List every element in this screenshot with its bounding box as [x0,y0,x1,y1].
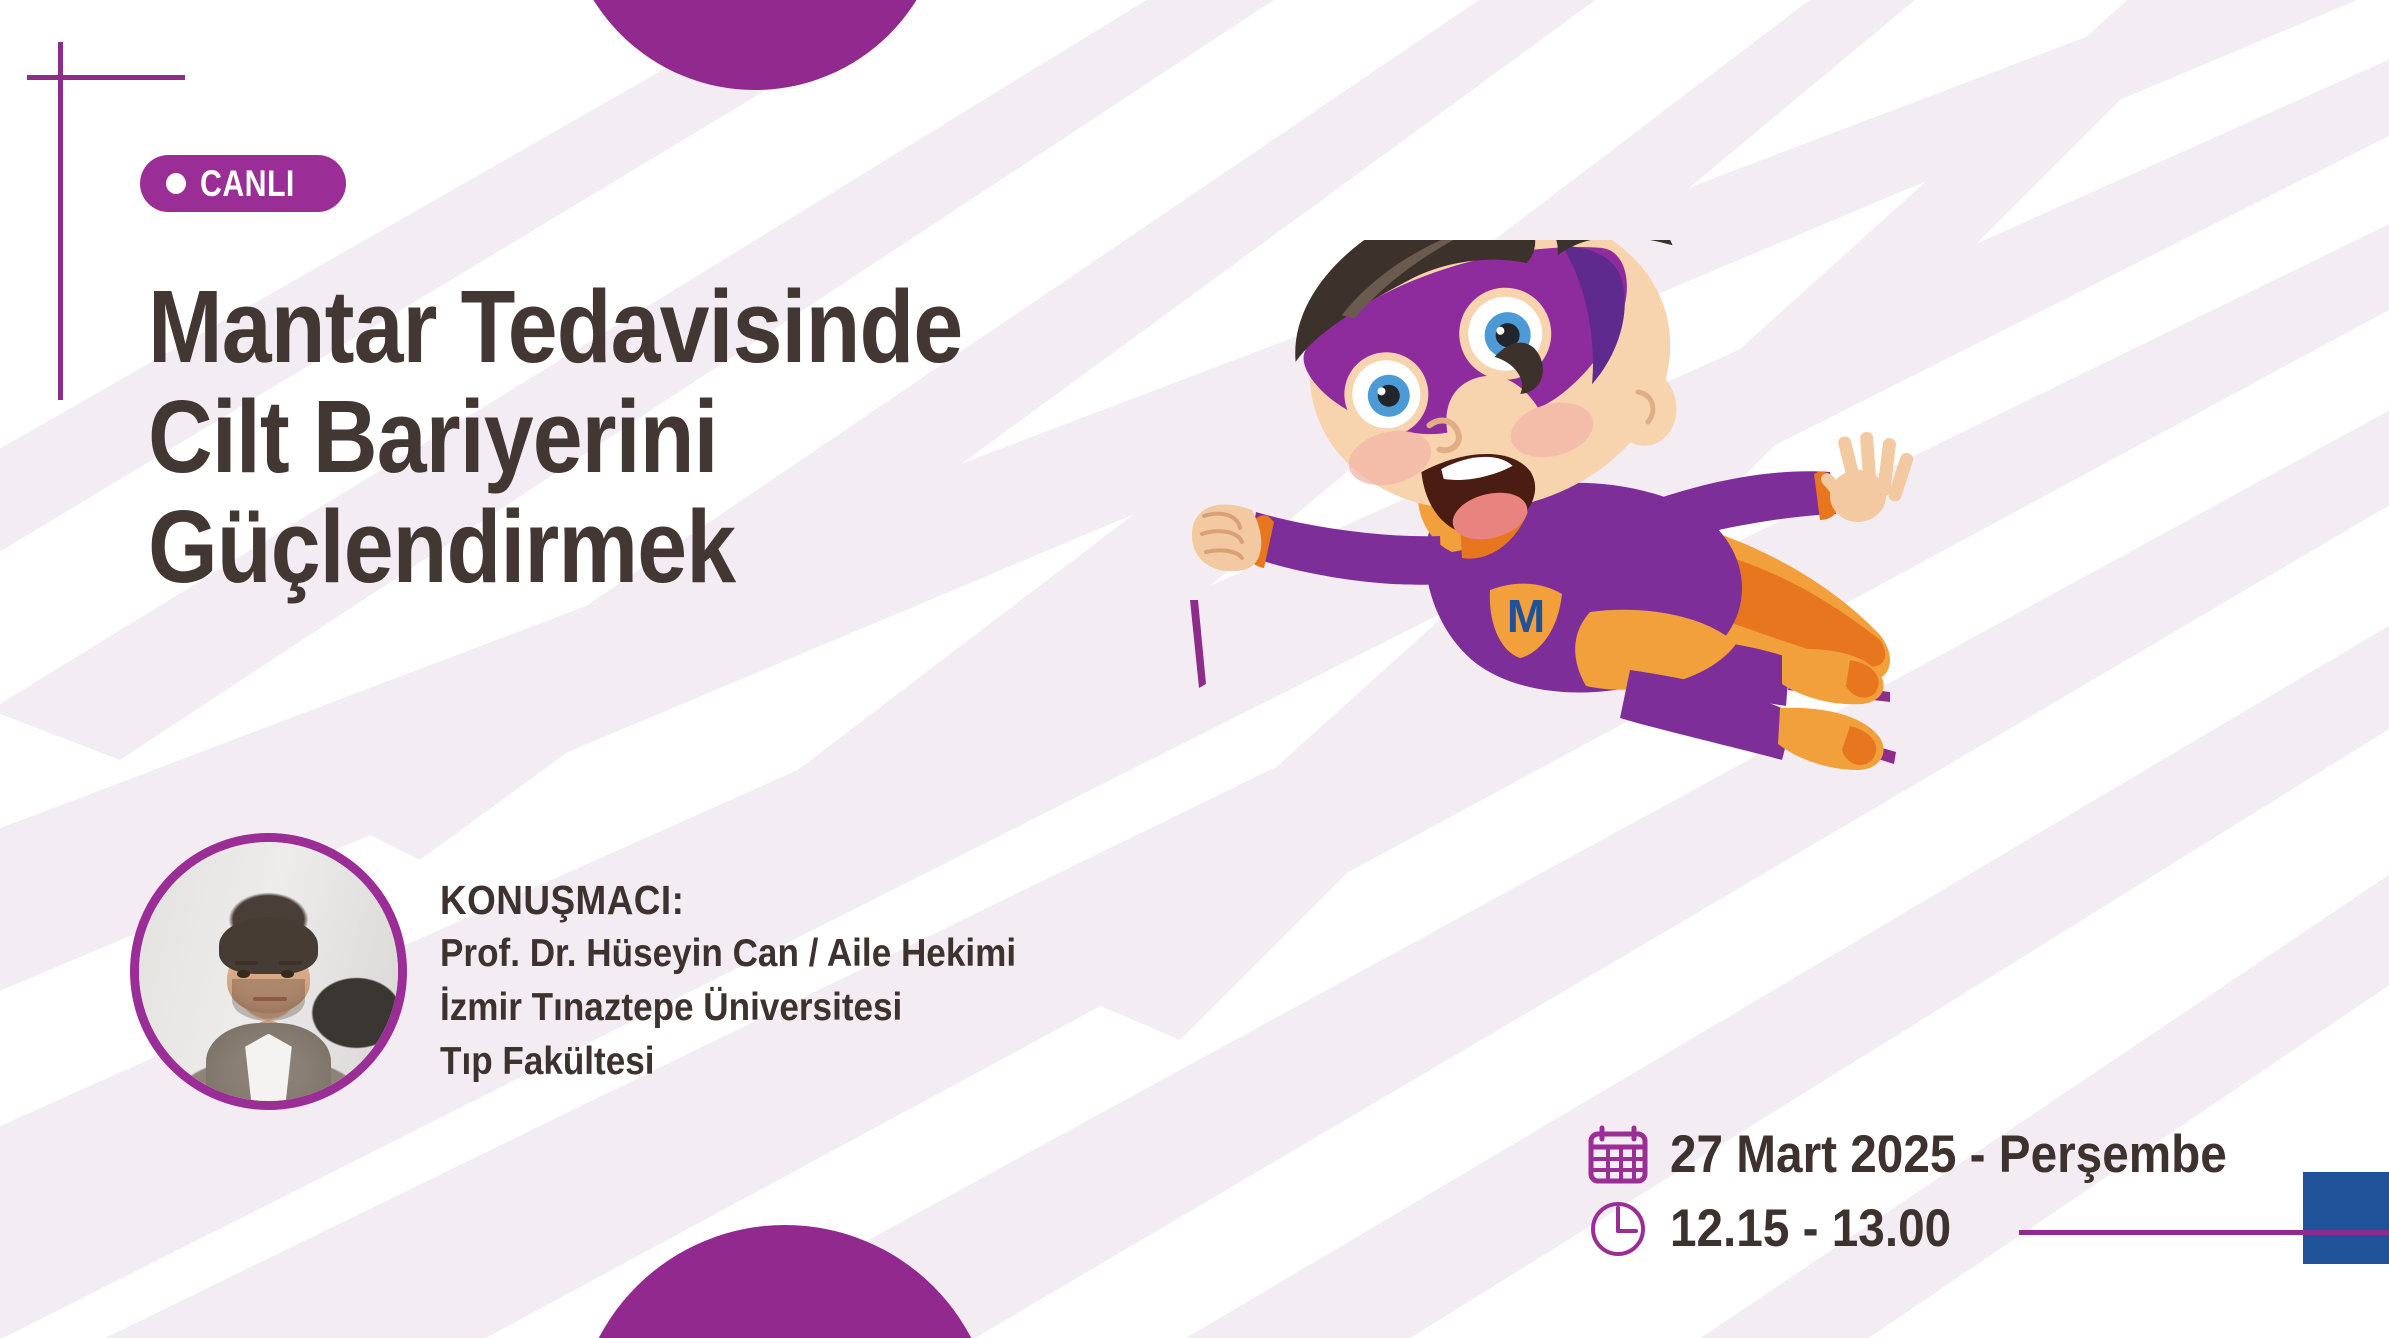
avatar-shirt [245,1034,292,1107]
speaker-faculty: Tıp Fakültesi [440,1035,1016,1089]
webinar-banner: CANLI Mantar Tedavisinde Cilt Bariyerini… [0,0,2389,1338]
decor-purple-rule [2019,1230,2389,1235]
flying-superhero-illustration: M [1190,240,2000,970]
speaker-details: KONUŞMACI: Prof. Dr. Hüseyin Can / Aile … [440,873,1080,1089]
decor-cross-vertical-line [58,42,63,400]
avatar-brow-right [279,961,302,965]
decor-cross-horizontal-line [27,75,185,80]
avatar-brow-left [235,961,258,965]
title-line-1: Mantar Tedavisinde [148,272,962,382]
speaker-avatar [130,833,407,1110]
avatar-mouth [253,997,287,1001]
schedule-block: 27 Mart 2025 - Perşembe 12.15 - 13.00 [1588,1125,2289,1259]
page-title: Mantar Tedavisinde Cilt Bariyerini Güçle… [148,272,1084,602]
schedule-date-text: 27 Mart 2025 - Perşembe [1670,1127,2227,1183]
speaker-name: Prof. Dr. Hüseyin Can / Aile Hekimi [440,927,1016,981]
speaker-institution: İzmir Tınaztepe Üniversitesi [440,981,1016,1035]
decor-blue-square [2303,1172,2389,1264]
hero-arm-front [1248,512,1442,585]
hero-arm-back [1660,471,1836,542]
title-line-2: Cilt Bariyerini [148,382,962,492]
avatar-hair [219,917,317,974]
schedule-date-row: 27 Mart 2025 - Perşembe [1588,1125,2289,1185]
schedule-time-text: 12.15 - 13.00 [1670,1201,1951,1257]
clock-icon [1588,1199,1648,1259]
live-badge: CANLI [140,155,346,212]
superhero-svg: M [1190,240,2000,970]
calendar-icon [1588,1125,1648,1185]
schedule-time-row: 12.15 - 13.00 [1588,1199,2289,1259]
live-dot-icon [166,173,186,194]
speaker-role-label: KONUŞMACI: [440,873,1016,927]
title-line-3: Güçlendirmek [148,492,962,602]
hero-emblem-letter: M [1507,590,1545,642]
live-badge-label: CANLI [200,165,295,202]
